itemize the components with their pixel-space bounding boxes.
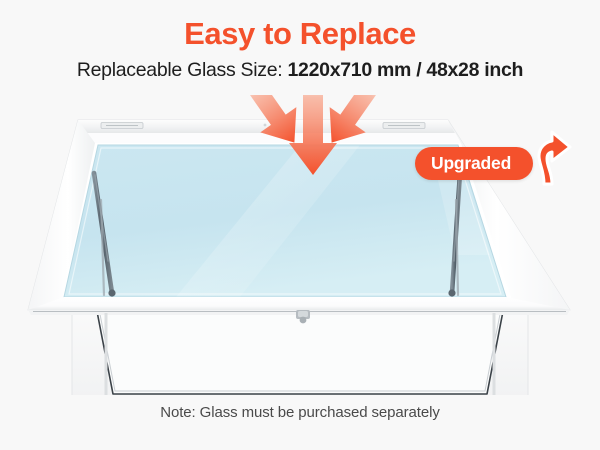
product-marketing-image: Easy to Replace Replaceable Glass Size: … xyxy=(0,0,600,450)
upgraded-badge[interactable]: Upgraded xyxy=(415,146,533,180)
curved-up-arrow-icon xyxy=(527,130,573,186)
glass-size-value: 1220x710 mm / 48x28 inch xyxy=(288,59,524,81)
sash-bottom-rail xyxy=(28,297,570,310)
footer-note: Note: Glass must be purchased separately xyxy=(0,404,600,421)
glass-size-label: Replaceable Glass Size: xyxy=(77,59,288,81)
hinge-left xyxy=(101,123,143,129)
glass-size-subtitle: Replaceable Glass Size: 1220x710 mm / 48… xyxy=(0,58,600,82)
page-title: Easy to Replace xyxy=(0,16,600,52)
upgraded-badge-label: Upgraded xyxy=(415,147,533,180)
hinge-right xyxy=(383,123,425,129)
window-illustration xyxy=(0,95,600,395)
